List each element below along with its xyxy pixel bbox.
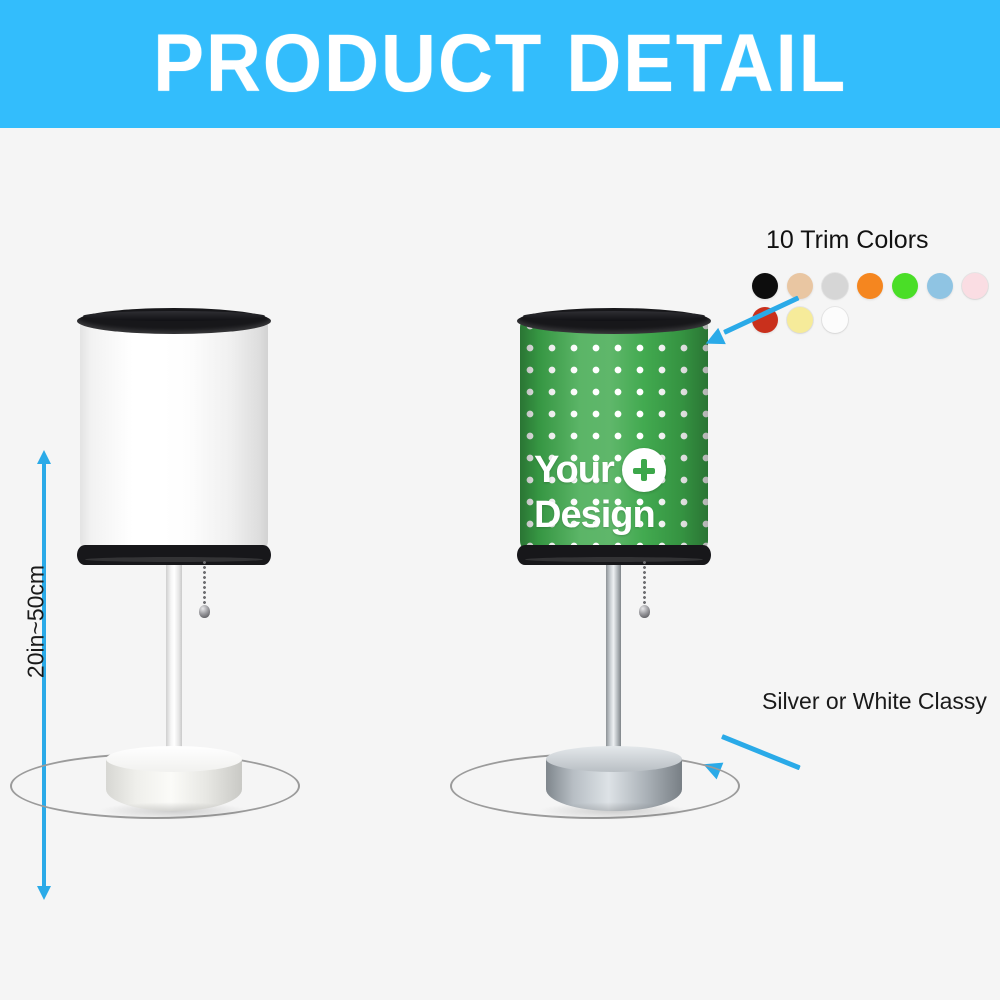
trim-ring-top	[77, 308, 271, 334]
lampshade-green: Your Design	[520, 308, 708, 563]
trim-swatch-light-gray[interactable]	[822, 273, 848, 299]
arrow-head-bottom	[37, 886, 51, 900]
base-shadow	[538, 802, 690, 820]
trim-swatch-white[interactable]	[822, 307, 848, 333]
base-finish-label: Silver or White Classy	[762, 688, 987, 715]
lamp-white	[0, 128, 340, 828]
header-banner: PRODUCT DETAIL	[0, 0, 1000, 128]
lampshade-white	[80, 308, 268, 563]
trim-swatch-green[interactable]	[892, 273, 918, 299]
pull-chain-bead	[639, 605, 650, 618]
lamp-pole-silver	[606, 560, 621, 760]
arrow-head	[702, 328, 726, 352]
trim-ring-top	[517, 308, 711, 334]
base-finish-pointer-arrow	[698, 716, 810, 766]
design-artwork: Your Design	[534, 448, 666, 534]
lampshade-surface	[80, 318, 268, 550]
trim-ring-bottom	[517, 545, 711, 565]
base-top	[546, 746, 682, 772]
pull-chain-bead	[199, 605, 210, 618]
base-top	[106, 746, 242, 772]
trim-swatch-tan[interactable]	[787, 273, 813, 299]
trim-swatch-light-blue[interactable]	[927, 273, 953, 299]
trim-ring-bottom	[77, 545, 271, 565]
page-title: PRODUCT DETAIL	[153, 17, 847, 111]
arrow-shaft	[721, 734, 801, 770]
product-illustration-stage: 7in~18cm 20in~50cm	[0, 128, 1000, 1000]
pull-chain	[643, 560, 646, 608]
trim-swatch-pink[interactable]	[962, 273, 988, 299]
trim-swatch-orange[interactable]	[857, 273, 883, 299]
lamp-base-white	[106, 746, 242, 826]
pull-chain	[203, 560, 206, 608]
lamp-base-silver	[546, 746, 682, 826]
trim-swatch-black[interactable]	[752, 273, 778, 299]
artwork-line-1: Your	[534, 448, 666, 492]
lamp-pole-white	[166, 560, 182, 760]
trim-colors-pointer-arrow	[700, 306, 810, 356]
artwork-line-2: Design	[534, 496, 666, 534]
plus-icon	[622, 448, 666, 492]
base-shadow	[98, 802, 250, 820]
artwork-text-design: Design	[534, 496, 655, 534]
artwork-text-your: Your	[534, 451, 614, 489]
trim-colors-title: 10 Trim Colors	[766, 226, 1000, 255]
